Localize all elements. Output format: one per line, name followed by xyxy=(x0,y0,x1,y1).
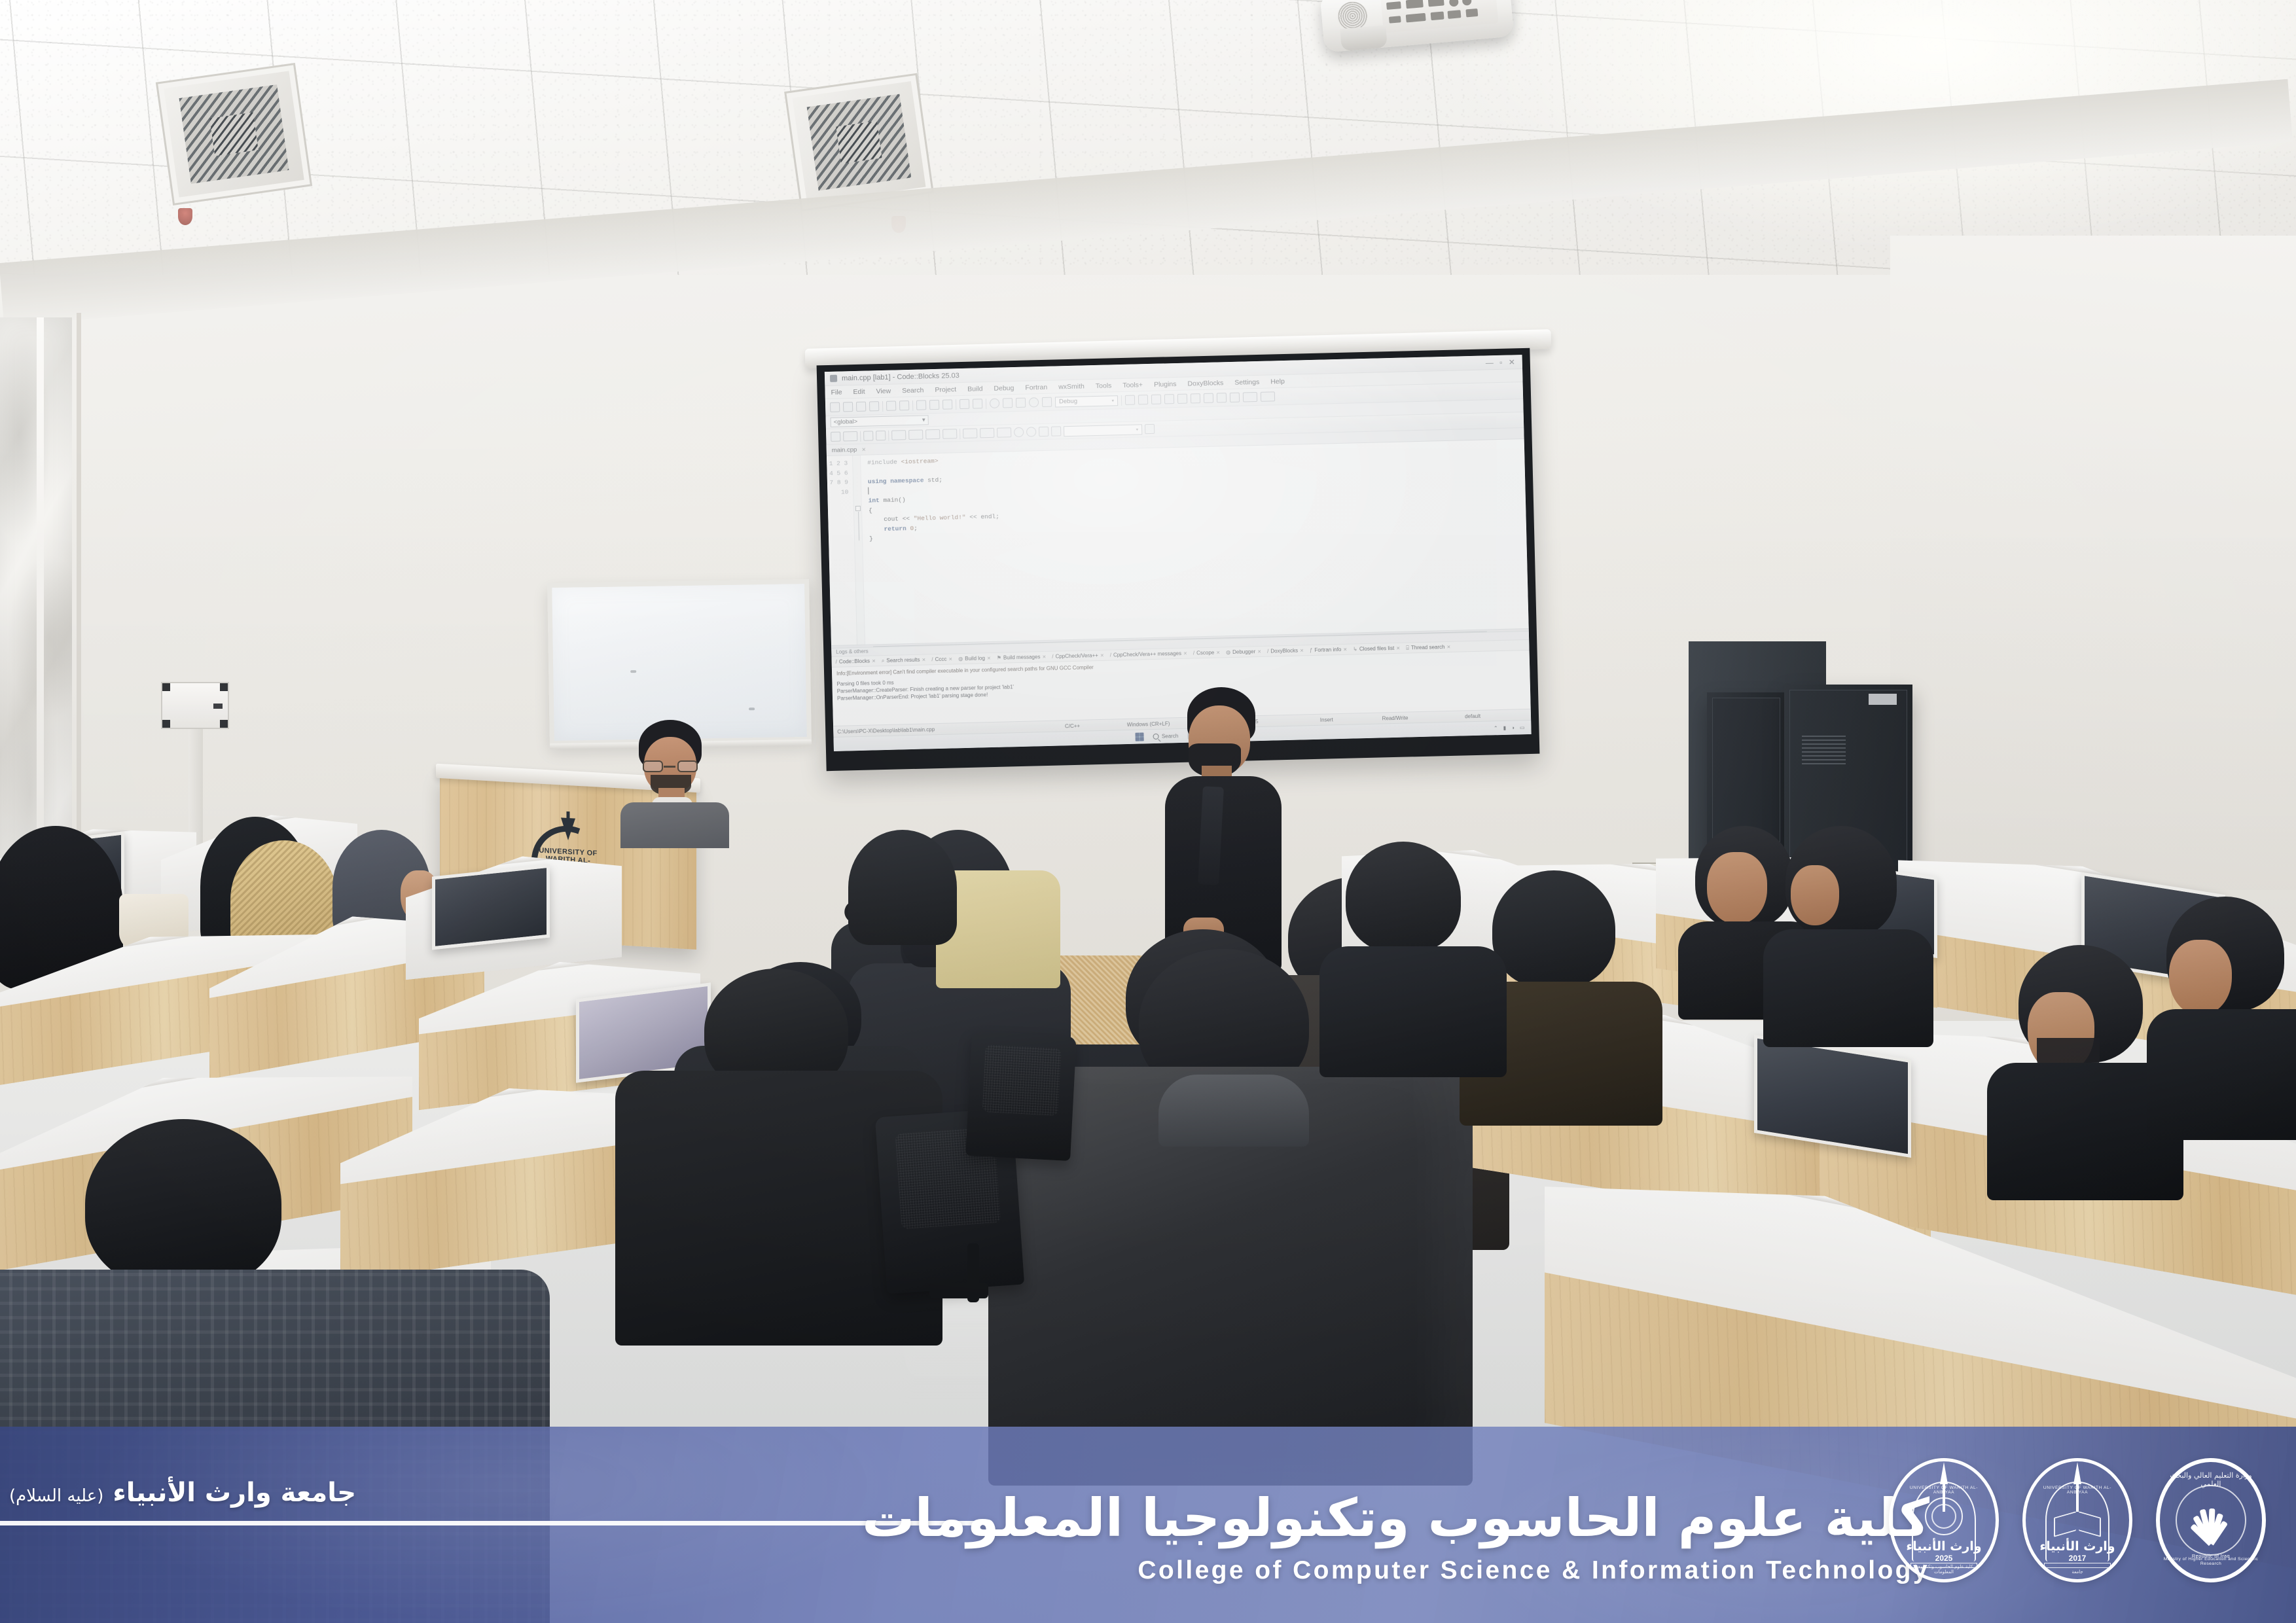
student-center-head-b xyxy=(848,830,957,945)
marble-wall-panel xyxy=(0,317,72,900)
open-file-icon[interactable] xyxy=(843,402,853,412)
college-seal: UNIVERSITY OF WARITH AL-ANBIYAA وارث الأ… xyxy=(1889,1458,1999,1582)
fold-range-line xyxy=(858,512,859,541)
debug-continue-icon[interactable] xyxy=(1125,395,1135,405)
pointer-tool-icon[interactable] xyxy=(831,432,840,442)
student-right-6 xyxy=(1335,842,1486,1051)
chair-base-1 xyxy=(929,1283,988,1298)
college-seal-arc-text: UNIVERSITY OF WARITH AL-ANBIYAA xyxy=(1905,1486,1982,1495)
ministry-sunburst-icon xyxy=(2186,1497,2236,1544)
menu-item-debug[interactable]: Debug xyxy=(994,384,1014,393)
find-icon[interactable] xyxy=(960,399,969,409)
seal-spire-icon xyxy=(1940,1462,1948,1484)
log-tab-cscope[interactable]: /Cscope✕ xyxy=(1193,649,1220,656)
seal-group: UNIVERSITY OF WARITH AL-ANBIYAA وارث الأ… xyxy=(1889,1458,2266,1582)
log-tab-closed-files-list[interactable]: ↳Closed files list✕ xyxy=(1353,645,1400,652)
university-seal-base xyxy=(2044,1563,2111,1568)
menu-item-wxsmith[interactable]: wxSmith xyxy=(1058,382,1085,391)
student-foreground-left xyxy=(641,969,916,1335)
system-tray[interactable]: ⌃ ▮ ◑ ▭ xyxy=(1494,724,1525,731)
leather-collar xyxy=(1158,1075,1309,1147)
menu-item-fortran[interactable]: Fortran xyxy=(1025,383,1047,391)
status-profile: default xyxy=(1465,712,1527,719)
whiteboard-smudge-b xyxy=(749,707,755,710)
chevron-down-icon: ▾ xyxy=(922,416,925,423)
cscope-c-icon[interactable] xyxy=(1051,426,1061,436)
college-seal-subtitle: كلية علوم الحاسوب وتكنولوجيا المعلومات xyxy=(1908,1564,1980,1575)
build-and-run-icon[interactable] xyxy=(1016,398,1026,408)
thread-search-input[interactable]: ▾ xyxy=(1064,424,1142,437)
monitor-center-1 xyxy=(432,865,550,950)
college-seal-inner: UNIVERSITY OF WARITH AL-ANBIYAA وارث الأ… xyxy=(1905,1471,1982,1569)
student-right-2 xyxy=(1776,826,1920,1022)
tray-expand-icon[interactable]: ⌃ xyxy=(1494,725,1498,731)
office-chair-2 xyxy=(965,1031,1077,1161)
ministry-seal: وزارة التعليم العالي والبحث العلمي Repub… xyxy=(2156,1458,2266,1582)
debug-stop-icon[interactable] xyxy=(1230,393,1240,402)
menu-item-project[interactable]: Project xyxy=(935,385,956,394)
scope-value: <global> xyxy=(834,418,858,426)
editor-tab-main-cpp[interactable]: main.cpp xyxy=(832,446,857,454)
sprinkler-left-icon xyxy=(178,208,192,225)
college-seal-year: 2025 xyxy=(1905,1554,1982,1563)
wxsmith-dialog-icon[interactable] xyxy=(863,431,873,440)
student-plaid-head xyxy=(85,1119,281,1289)
debugging-windows-icon[interactable] xyxy=(1243,392,1257,402)
marble-panel-seam xyxy=(37,317,44,900)
cppcheck-icon[interactable] xyxy=(980,428,994,438)
menu-item-search[interactable]: Search xyxy=(902,386,924,395)
right-wall xyxy=(1890,236,2296,890)
chair-column-1 xyxy=(967,1243,979,1302)
student-right-2-face xyxy=(1791,865,1839,925)
status-permissions: Read/Write xyxy=(1382,713,1465,721)
build-target-value: Debug xyxy=(1059,398,1077,406)
cscope-s-icon[interactable] xyxy=(1039,427,1049,437)
thread-search-go-icon[interactable] xyxy=(1145,424,1155,434)
menu-item-help[interactable]: Help xyxy=(1270,377,1285,385)
codeblocks-logo-icon xyxy=(830,375,837,382)
menu-item-view[interactable]: View xyxy=(876,387,891,395)
menu-item-tools[interactable]: Tools xyxy=(1096,382,1112,390)
debug-run-to-cursor-icon[interactable] xyxy=(1204,393,1213,403)
log-tab-thread-search[interactable]: ⌸Thread search✕ xyxy=(1406,643,1451,651)
rebuild-icon[interactable] xyxy=(1029,397,1039,407)
menu-item-settings[interactable]: Settings xyxy=(1234,378,1259,386)
log-tab-build-log[interactable]: ◍Build log✕ xyxy=(958,655,991,662)
chevron-down-icon: ▾ xyxy=(1111,398,1114,403)
code-text-area[interactable]: #include <iostream> using namespace std;… xyxy=(861,439,1529,645)
close-tab-icon[interactable]: ✕ xyxy=(861,446,866,452)
open-book-icon xyxy=(2054,1512,2101,1534)
student-right-4-face xyxy=(2169,940,2232,1016)
presenter-lectern-blazer xyxy=(620,802,729,848)
college-seal-arabic: وارث الأنبياء xyxy=(1905,1539,1982,1554)
doxyblocks-run-icon[interactable] xyxy=(925,429,940,440)
marble-panel-edge xyxy=(77,313,81,902)
status-insert-mode: Insert xyxy=(1320,715,1382,722)
college-name-english: College of Computer Science & Informatio… xyxy=(862,1556,1929,1585)
volume-icon[interactable]: ◑ xyxy=(1511,725,1515,731)
doxyblocks-comment-icon[interactable] xyxy=(891,430,906,440)
log-tab-cccc[interactable]: /Cccc✕ xyxy=(931,656,952,662)
student-right-6-jacket xyxy=(1319,946,1507,1077)
replace-icon[interactable] xyxy=(973,399,982,408)
debug-next-instruction-icon[interactable] xyxy=(1164,394,1174,404)
battery-icon[interactable]: ▭ xyxy=(1520,724,1525,730)
doxyblocks-block-icon[interactable] xyxy=(908,429,923,440)
projector-port-panel xyxy=(1380,0,1498,33)
university-seal-arc-text: UNIVERSITY OF WARITH AL-ANBIYAA xyxy=(2039,1486,2116,1495)
wall-electrical-box-icon xyxy=(161,682,229,729)
ministry-seal-name: Ministry of Higher Education and Scienti… xyxy=(2160,1557,2262,1566)
college-name-arabic: كلية علوم الحاسوب وتكنولوجيا المعلومات xyxy=(862,1491,1929,1546)
zoom-in-icon[interactable] xyxy=(1014,427,1024,437)
whiteboard-smudge-a xyxy=(630,670,636,673)
build-icon[interactable] xyxy=(990,399,999,408)
menu-item-doxyblocks[interactable]: DoxyBlocks xyxy=(1187,379,1223,387)
university-name-arabic-honorific: (عليه السلام) xyxy=(9,1486,103,1506)
debug-run-icon[interactable] xyxy=(1138,395,1148,404)
log-tab-cppcheck-vera[interactable]: /CppCheck/Vera++✕ xyxy=(1052,652,1104,660)
doxyblocks-config-icon[interactable] xyxy=(942,429,957,439)
menu-item-plugins[interactable]: Plugins xyxy=(1154,380,1177,388)
wxsmith-frame-icon[interactable] xyxy=(876,431,886,440)
student-right-6-hair xyxy=(1346,842,1461,953)
debug-step-out-icon[interactable] xyxy=(1191,393,1200,403)
menu-item-build[interactable]: Build xyxy=(967,385,983,393)
status-language: C/C++ xyxy=(1065,721,1127,728)
chevron-down-icon: ▾ xyxy=(1136,427,1139,432)
university-seal-arabic: وارث الأنبياء xyxy=(2039,1539,2116,1554)
rack-vent-grille xyxy=(1802,734,1846,765)
debug-step-into-icon[interactable] xyxy=(1177,394,1187,404)
log-tab-doxyblocks[interactable]: /DoxyBlocks✕ xyxy=(1267,647,1304,654)
classroom-photo: main.cpp [lab1] - Code::Blocks 25.03 — ▫… xyxy=(0,0,2296,1623)
student-right-2-jacket xyxy=(1763,929,1933,1047)
new-file-icon[interactable] xyxy=(830,402,840,412)
copy-icon[interactable] xyxy=(929,400,939,410)
university-seal-year: 2017 xyxy=(2039,1554,2116,1563)
panel-tool-icon[interactable] xyxy=(843,431,857,442)
menu-item-file[interactable]: File xyxy=(831,388,842,396)
ministry-seal-core xyxy=(2176,1485,2246,1556)
screenshot-canvas: main.cpp [lab1] - Code::Blocks 25.03 — ▫… xyxy=(0,0,2296,1623)
projector-lens xyxy=(1340,25,1388,51)
university-seal: UNIVERSITY OF WARITH AL-ANBIYAA وارث الأ… xyxy=(2022,1458,2132,1582)
cccc-analyse-icon[interactable] xyxy=(963,428,977,438)
build-target-select[interactable]: Debug ▾ xyxy=(1055,395,1118,407)
cut-icon[interactable] xyxy=(916,400,926,410)
menu-item-tools-plus[interactable]: Tools+ xyxy=(1122,381,1143,389)
redo-icon[interactable] xyxy=(899,401,909,410)
undo-icon[interactable] xyxy=(886,401,896,410)
debug-break-icon[interactable] xyxy=(1217,393,1227,402)
university-seal-subtitle: جامعة xyxy=(2041,1569,2113,1575)
log-tab-codeblocks[interactable]: /Code::Blocks✕ xyxy=(836,658,876,664)
scope-select[interactable]: <global> ▾ xyxy=(831,415,929,427)
save-all-icon[interactable] xyxy=(869,401,879,411)
window-controls[interactable]: — ▫ ✕ xyxy=(1486,357,1517,367)
ministry-seal-arabic: وزارة التعليم العالي والبحث العلمي xyxy=(2160,1471,2262,1488)
abort-icon[interactable] xyxy=(1042,397,1052,407)
save-icon[interactable] xyxy=(856,402,866,412)
eyeglasses-icon xyxy=(643,760,698,772)
student-right-1-face xyxy=(1707,852,1767,924)
debug-next-line-icon[interactable] xyxy=(1151,395,1161,404)
menu-item-edit[interactable]: Edit xyxy=(853,387,865,395)
university-seal-inner: UNIVERSITY OF WARITH AL-ANBIYAA وارث الأ… xyxy=(2039,1471,2116,1569)
run-icon[interactable] xyxy=(1003,398,1013,408)
log-tab-build-messages[interactable]: ⚑Build messages✕ xyxy=(997,654,1047,661)
ceiling-diffuser-left-icon xyxy=(156,63,312,205)
college-name-block: كلية علوم الحاسوب وتكنولوجيا المعلومات C… xyxy=(862,1491,1929,1585)
windows-start-icon[interactable] xyxy=(1136,732,1144,741)
student-right-4-jacket xyxy=(2147,1009,2296,1140)
student-right-4 xyxy=(2160,897,2296,1119)
vera-icon[interactable] xyxy=(997,427,1011,438)
log-tab-cppcheck-vera-messages[interactable]: /CppCheck/Vera++ messages✕ xyxy=(1110,651,1187,658)
student-right-5-hair xyxy=(1492,870,1615,988)
log-tab-debugger[interactable]: ◍Debugger✕ xyxy=(1226,649,1261,655)
presenter-at-lectern xyxy=(619,720,730,831)
university-name-arabic: جامعة وارث الأنبياء (عليه السلام) xyxy=(9,1478,356,1508)
code-editor[interactable]: 1 2 3 4 5 6 7 8 9 10 #include <iostream>… xyxy=(827,439,1529,645)
fold-toggle-icon[interactable] xyxy=(855,506,861,511)
log-tab-search-results[interactable]: ⌕Search results✕ xyxy=(882,656,926,664)
banner-divider-rule xyxy=(0,1521,982,1525)
university-name-arabic-main: جامعة وارث الأنبياء xyxy=(113,1478,356,1508)
network-icon[interactable]: ▮ xyxy=(1503,725,1507,731)
paste-icon[interactable] xyxy=(942,399,952,409)
debugger-info-icon[interactable] xyxy=(1261,391,1275,402)
ide-title-text: main.cpp [lab1] - Code::Blocks 25.03 xyxy=(842,372,960,382)
seal-spire-icon xyxy=(2073,1462,2081,1484)
seal-inner-ring-2 xyxy=(1931,1504,1956,1529)
line-number-gutter: 1 2 3 4 5 6 7 8 9 10 xyxy=(827,455,857,645)
zoom-out-icon[interactable] xyxy=(1026,427,1036,437)
branding-banner: جامعة وارث الأنبياء (عليه السلام) كلية ع… xyxy=(0,1427,2296,1623)
rack-label xyxy=(1869,694,1897,705)
log-tab-fortran-info[interactable]: ƒFortran info✕ xyxy=(1310,647,1347,653)
